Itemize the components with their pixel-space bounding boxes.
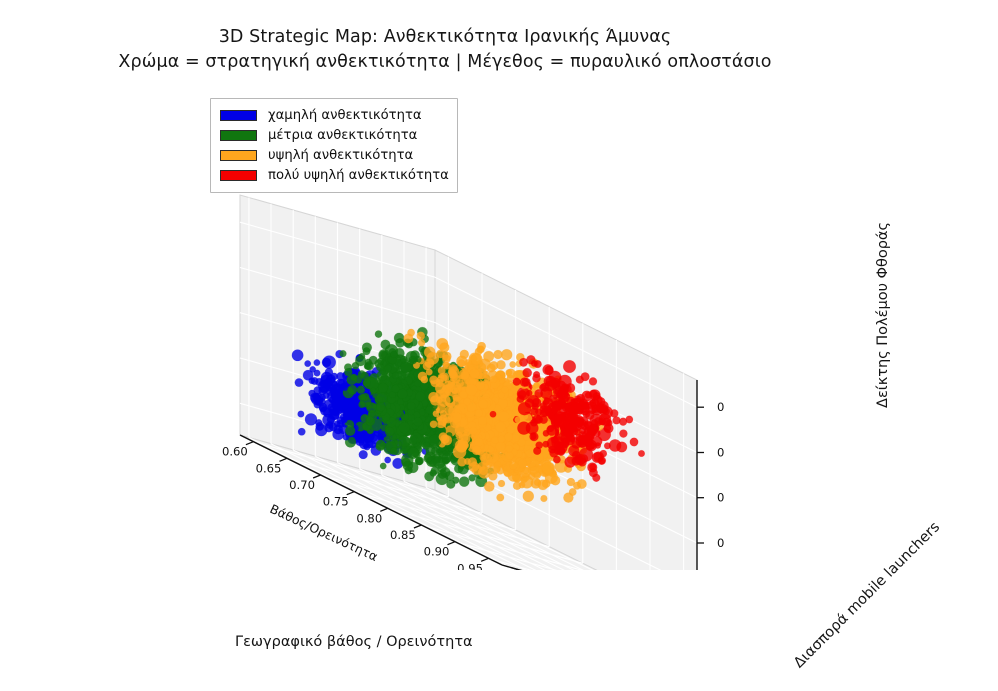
- svg-text:0.70: 0.70: [289, 478, 315, 492]
- svg-text:0.60: 0.60: [222, 445, 248, 459]
- svg-text:0.75: 0.75: [323, 495, 349, 509]
- legend-swatch-medium: [220, 130, 257, 141]
- svg-text:0.5: 0.5: [717, 400, 725, 414]
- plot-canvas: 0.600.650.700.750.800.850.900.950.500.55…: [195, 150, 725, 570]
- legend-item-low[interactable]: χαμηλή ανθεκτικότητα: [220, 105, 448, 125]
- legend[interactable]: χαμηλή ανθεκτικότητα μέτρια ανθεκτικότητ…: [210, 98, 458, 193]
- chart-title-block: 3D Strategic Map: Ανθεκτικότητα Ιρανικής…: [0, 26, 890, 74]
- x-axis-caption: Γεωγραφικό βάθος / Ορεινότητα: [235, 634, 473, 650]
- svg-text:0.85: 0.85: [390, 528, 416, 542]
- legend-swatch-veryhigh: [220, 170, 257, 181]
- legend-label-medium: μέτρια ανθεκτικότητα: [268, 128, 417, 143]
- svg-text:0.80: 0.80: [356, 511, 382, 525]
- svg-text:0.3: 0.3: [717, 491, 725, 505]
- legend-label-veryhigh: πολύ υψηλή ανθεκτικότητα: [268, 168, 449, 183]
- svg-text:0.4: 0.4: [717, 446, 725, 460]
- page-subtitle: Χρώμα = στρατηγική ανθεκτικότητα | Μέγεθ…: [0, 51, 890, 73]
- svg-text:0.65: 0.65: [256, 461, 282, 475]
- legend-label-low: χαμηλή ανθεκτικότητα: [268, 108, 422, 123]
- page-title: 3D Strategic Map: Ανθεκτικότητα Ιρανικής…: [0, 26, 890, 48]
- legend-swatch-high: [220, 150, 257, 161]
- legend-swatch-low: [220, 110, 257, 121]
- z-axis-caption: Δείκτης Πολέμου Φθοράς: [875, 36, 891, 222]
- y-axis-caption: Διασπορά mobile launchers: [791, 519, 943, 671]
- svg-text:0.90: 0.90: [424, 545, 450, 559]
- legend-item-veryhigh[interactable]: πολύ υψηλή ανθεκτικότητα: [220, 165, 448, 185]
- svg-text:0.2: 0.2: [717, 536, 725, 550]
- z-axis-caption-text: Δείκτης Πολέμου Φθοράς: [875, 222, 891, 408]
- legend-label-high: υψηλή ανθεκτικότητα: [268, 148, 413, 163]
- legend-item-medium[interactable]: μέτρια ανθεκτικότητα: [220, 125, 448, 145]
- svg-text:0.50: 0.50: [520, 568, 546, 570]
- svg-text:0.95: 0.95: [457, 561, 483, 570]
- legend-item-high[interactable]: υψηλή ανθεκτικότητα: [220, 145, 448, 165]
- scatter-3d-plot: 0.600.650.700.750.800.850.900.950.500.55…: [195, 150, 725, 570]
